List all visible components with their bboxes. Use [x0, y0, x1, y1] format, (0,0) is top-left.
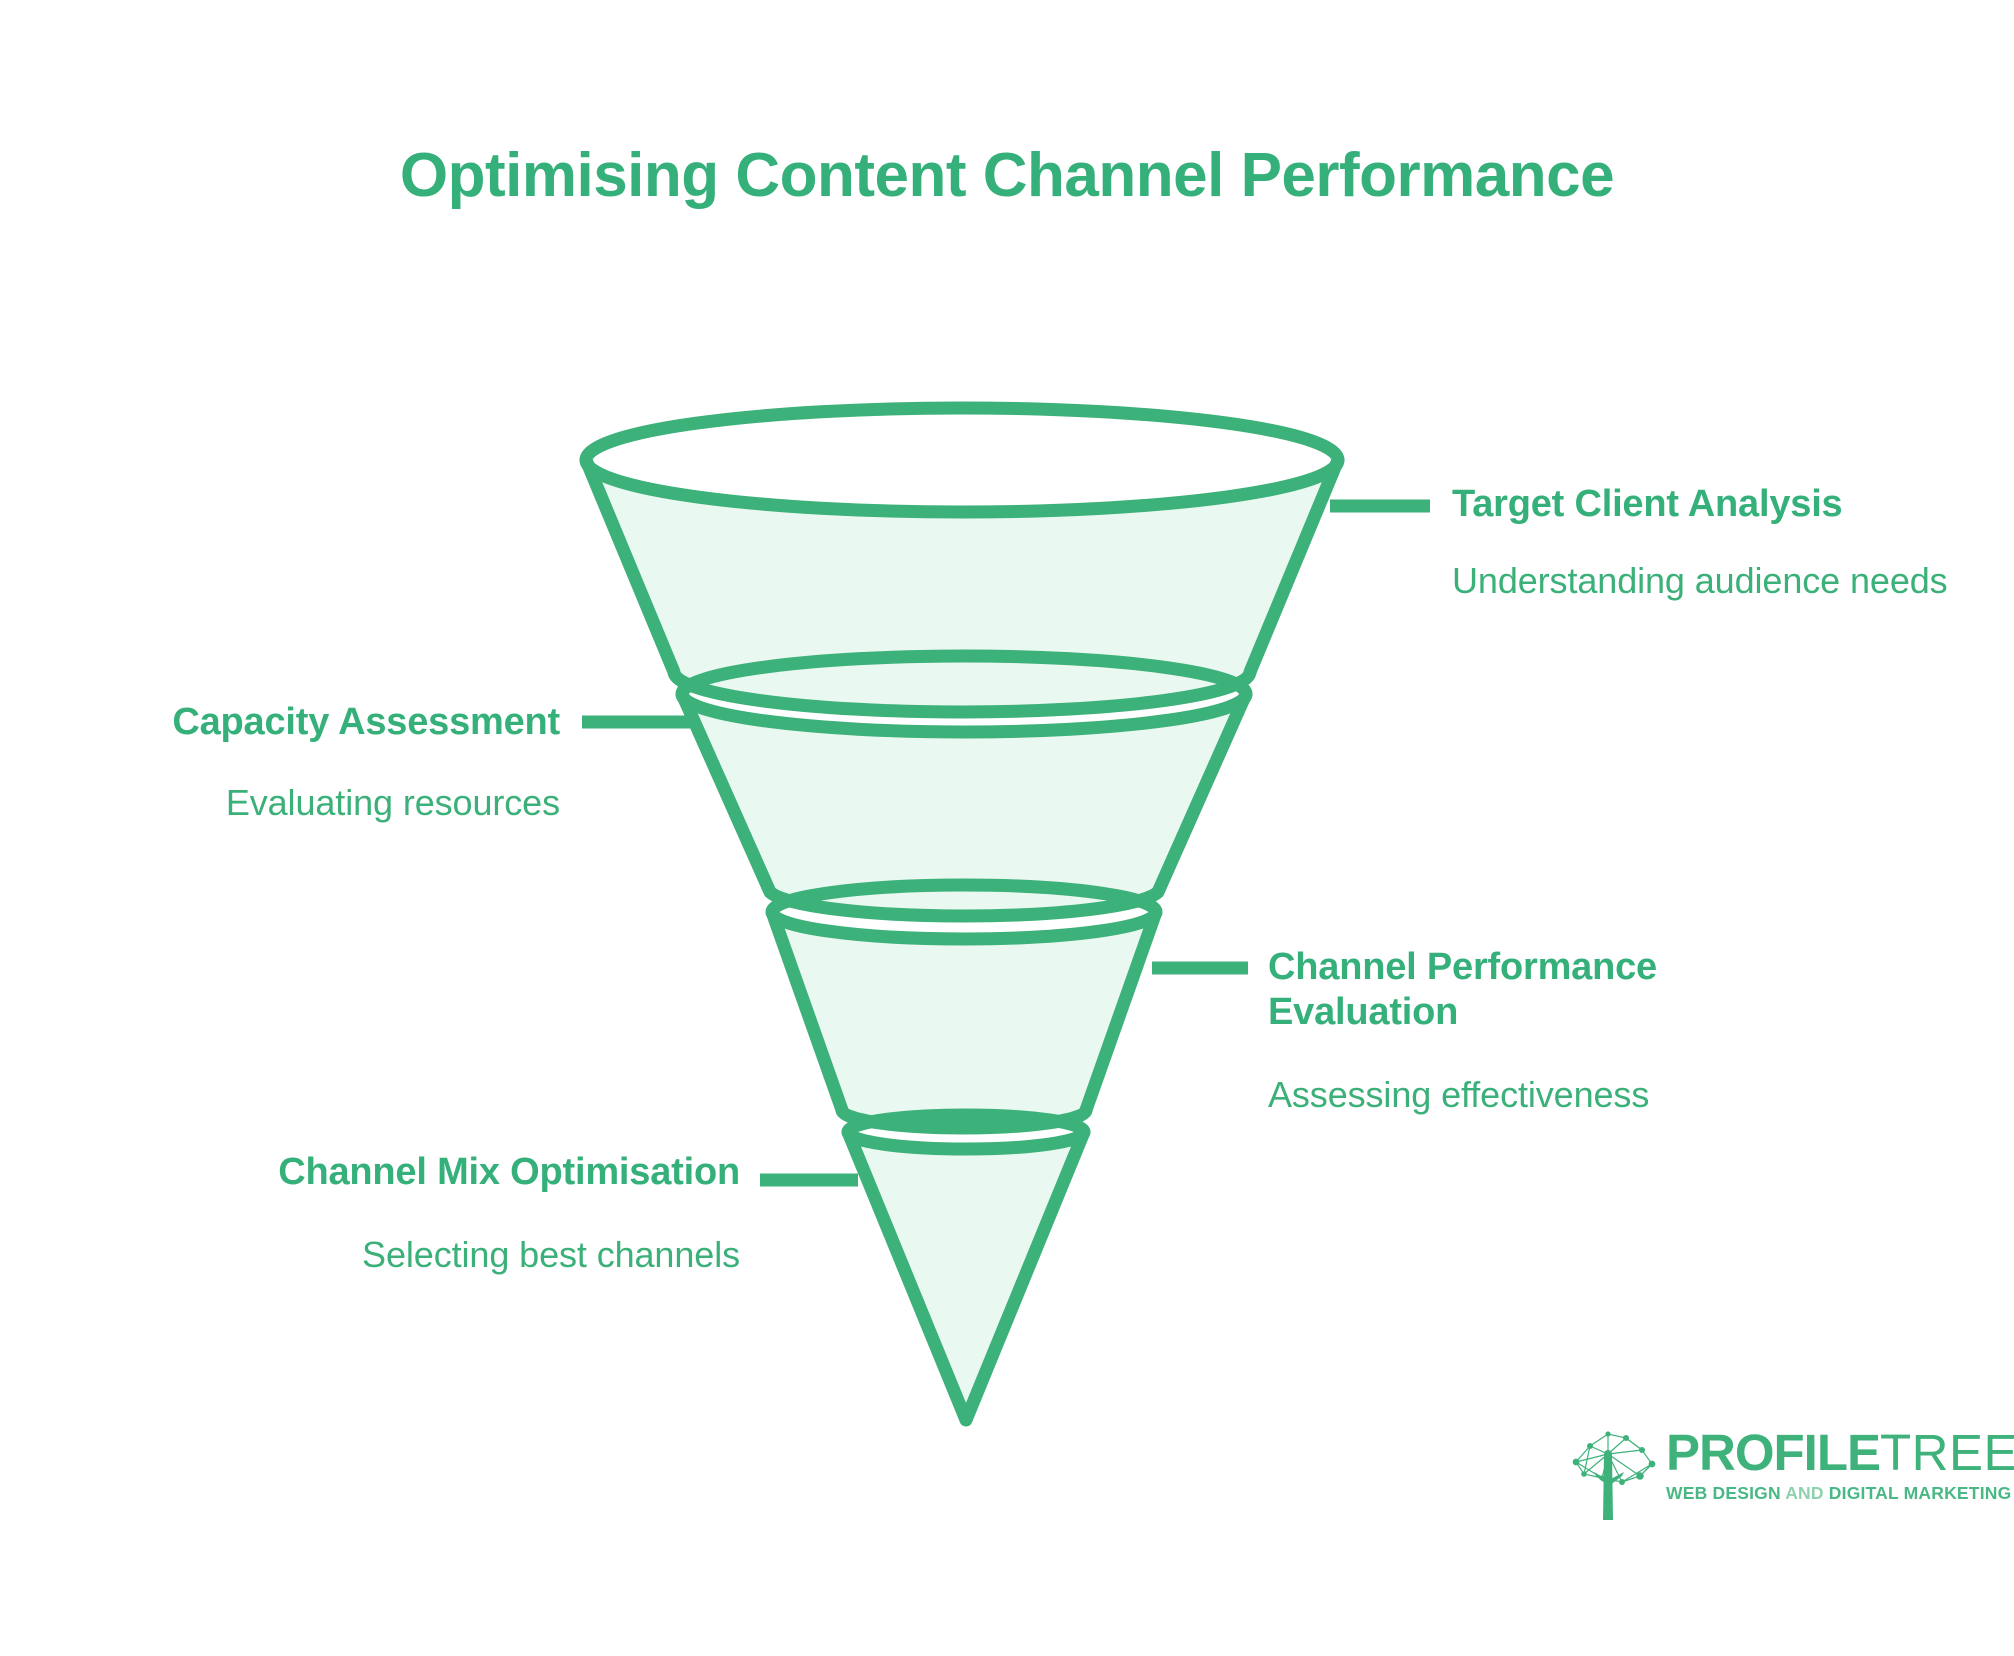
logo-tagline-part-1: WEB DESIGN [1666, 1483, 1781, 1503]
stage-1-description: Understanding audience needs [1452, 559, 1972, 603]
funnel-stage-label-4: Channel Mix Optimisation Selecting best … [60, 1150, 740, 1277]
page-title: Optimising Content Channel Performance [0, 142, 2014, 210]
funnel-stage-label-2: Capacity Assessment Evaluating resources [60, 700, 560, 825]
stage-1-title: Target Client Analysis [1452, 482, 1972, 527]
stage-2-title: Capacity Assessment [60, 700, 560, 745]
funnel-segment-1 [586, 408, 1338, 712]
funnel-stage-label-1: Target Client Analysis Understanding aud… [1452, 482, 1972, 603]
stage-4-title: Channel Mix Optimisation [60, 1150, 740, 1195]
funnel-segment-2 [682, 656, 1246, 916]
logo-tagline: WEB DESIGN AND DIGITAL MARKETING [1666, 1483, 1938, 1504]
funnel-stage-label-3: Channel Performance Evaluation Assessing… [1268, 945, 1788, 1117]
funnel-segment-4 [848, 1115, 1084, 1420]
profiletree-logo: PROFILETREE WEB DESIGN AND DIGITAL MARKE… [1568, 1424, 1938, 1536]
stage-2-description: Evaluating resources [60, 781, 560, 825]
stage-3-description: Assessing effectiveness [1268, 1073, 1788, 1117]
stage-3-title: Channel Performance Evaluation [1268, 945, 1788, 1035]
network-tree-icon [1568, 1424, 1660, 1524]
logo-text-block: PROFILETREE WEB DESIGN AND DIGITAL MARKE… [1666, 1428, 1938, 1504]
logo-word-tree: TREE [1880, 1424, 2014, 1481]
logo-tagline-part-2: AND [1781, 1483, 1829, 1503]
stage-4-description: Selecting best channels [60, 1233, 740, 1277]
logo-wordmark: PROFILETREE [1666, 1428, 1938, 1478]
logo-tagline-part-3: DIGITAL MARKETING [1829, 1483, 2012, 1503]
funnel-segment-3 [772, 885, 1156, 1128]
funnel-diagram: .fn-fill { fill: #e9f8f0; } .fn-stroke {… [0, 0, 2014, 1656]
infographic-canvas: Optimising Content Channel Performance .… [0, 0, 2014, 1656]
logo-word-profile: PROFILE [1666, 1424, 1880, 1481]
